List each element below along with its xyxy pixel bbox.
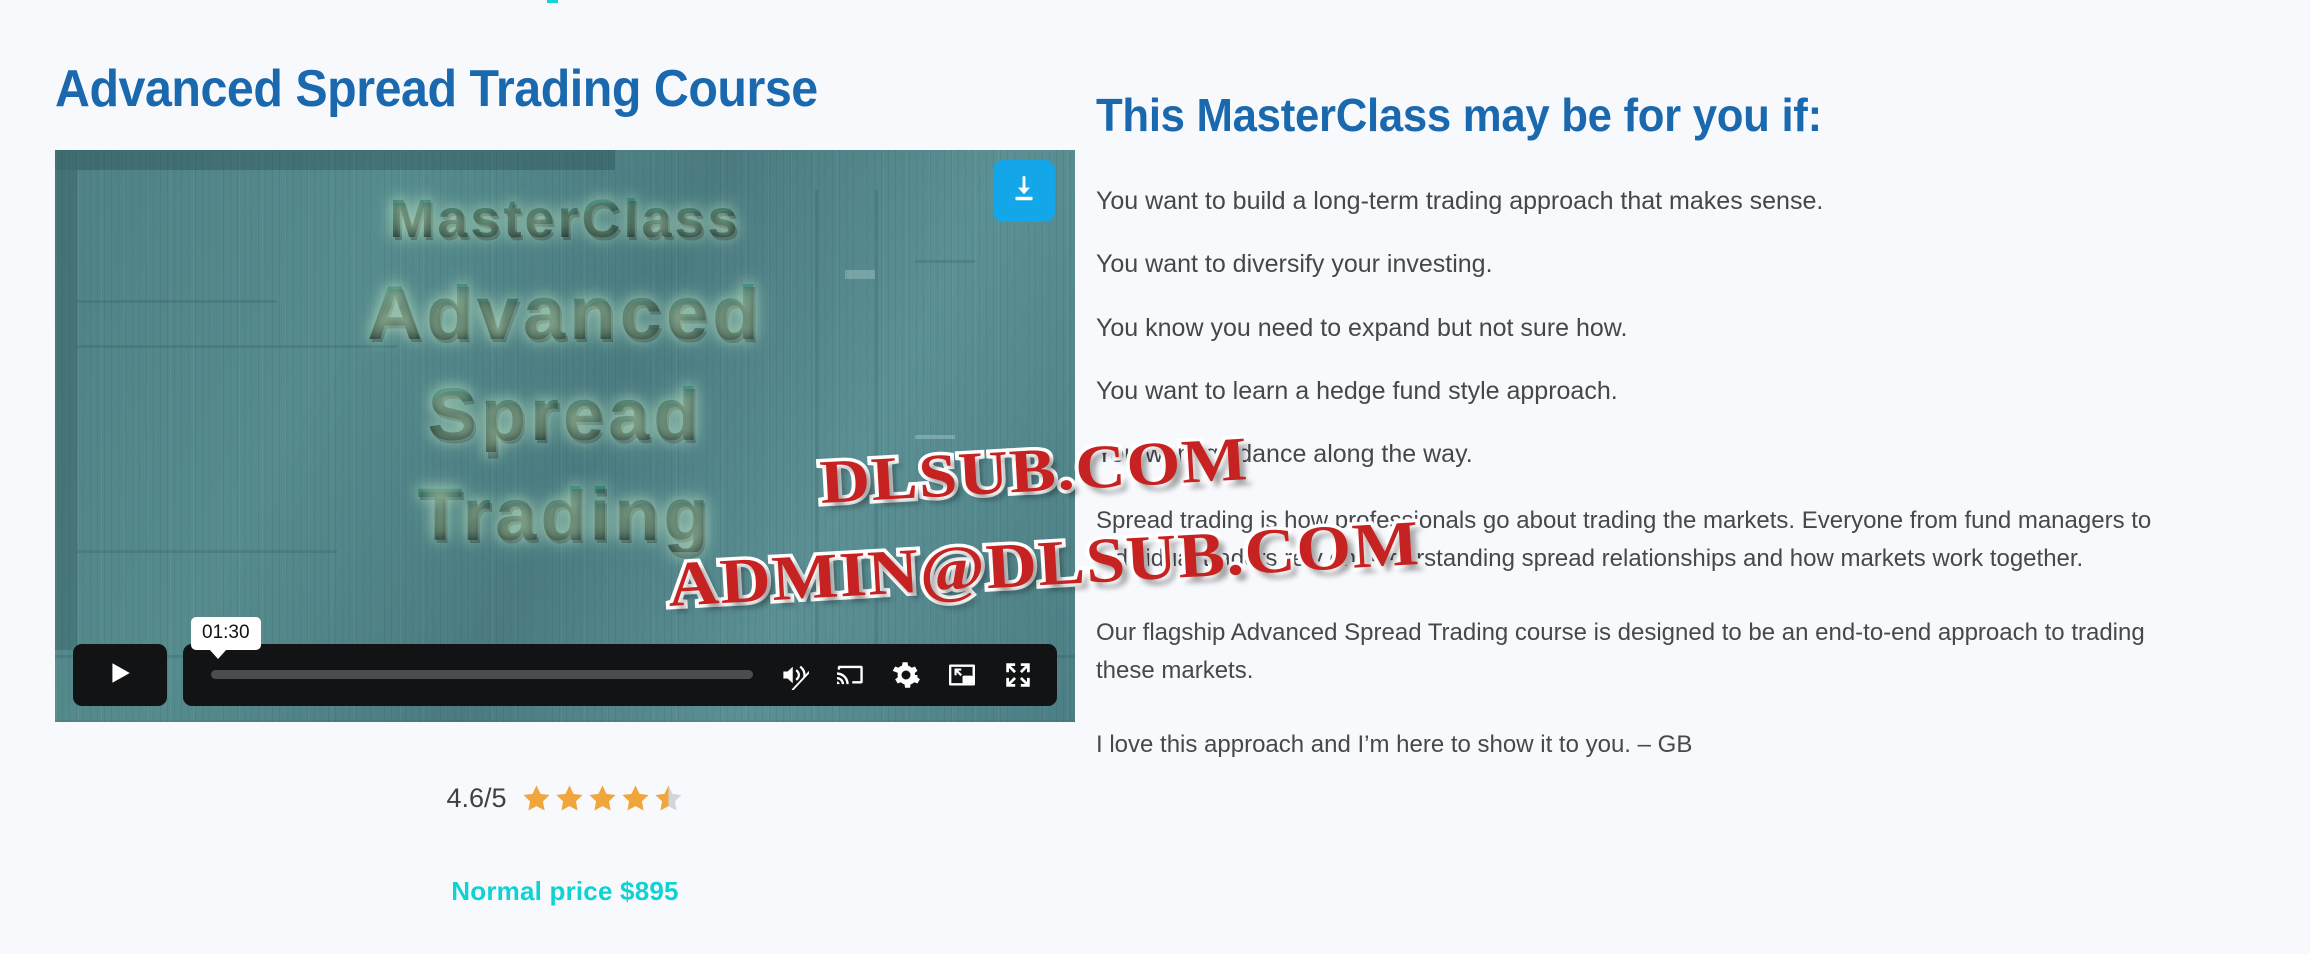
list-item: You want guidance along the way.	[1096, 439, 2236, 470]
thumbnail-line-2: Advanced	[55, 276, 1075, 352]
star-half-icon	[653, 783, 684, 814]
page-root: Advanced Spread Trading Course MasterCla…	[0, 0, 2310, 954]
list-item: You know you need to expand but not sure…	[1096, 313, 2236, 344]
download-icon	[1007, 172, 1041, 209]
rating-row: 4.6/5	[55, 783, 1075, 814]
fullscreen-icon[interactable]	[1001, 658, 1035, 692]
paragraph: Our flagship Advanced Spread Trading cou…	[1096, 614, 2196, 690]
thumbnail-line-1: MasterClass	[55, 192, 1075, 246]
cut-off-text-fragment	[547, 0, 558, 3]
play-icon	[107, 658, 133, 691]
thumbnail-line-4: Trading	[55, 478, 1075, 552]
video-player[interactable]: MasterClass Advanced Spread Trading 01:3…	[55, 150, 1075, 722]
paragraph: Spread trading is how professionals go a…	[1096, 502, 2196, 578]
right-column: This MasterClass may be for you if: You …	[1096, 88, 2236, 764]
thumbnail-line-3: Spread	[55, 378, 1075, 452]
miniplayer-icon[interactable]	[945, 658, 979, 692]
benefits-list: You want to build a long-term trading ap…	[1096, 186, 2236, 470]
description-block: Spread trading is how professionals go a…	[1096, 502, 2236, 764]
chart-decoration	[55, 150, 615, 170]
star-rating	[521, 783, 684, 814]
section-heading: This MasterClass may be for you if:	[1096, 88, 2179, 142]
list-item: You want to learn a hedge fund style app…	[1096, 376, 2236, 407]
page-title: Advanced Spread Trading Course	[55, 60, 1004, 120]
video-control-bar	[183, 644, 1057, 706]
star-icon	[554, 783, 585, 814]
rating-value: 4.6/5	[446, 783, 506, 814]
list-item: You want to build a long-term trading ap…	[1096, 186, 2236, 217]
play-button[interactable]	[73, 644, 167, 706]
video-progress-bar[interactable]	[211, 670, 753, 679]
normal-price-label: Normal price $895	[451, 876, 678, 906]
left-column: Advanced Spread Trading Course MasterCla…	[55, 60, 1075, 722]
star-icon	[620, 783, 651, 814]
cast-icon[interactable]	[833, 658, 867, 692]
download-button[interactable]	[993, 160, 1055, 222]
star-icon	[521, 783, 552, 814]
mute-icon[interactable]	[777, 658, 811, 692]
settings-icon[interactable]	[889, 658, 923, 692]
video-control-icons	[777, 658, 1035, 692]
star-icon	[587, 783, 618, 814]
video-time-tooltip: 01:30	[191, 617, 261, 650]
video-thumbnail-title: MasterClass Advanced Spread Trading	[55, 192, 1075, 552]
paragraph-signature: I love this approach and I’m here to sho…	[1096, 726, 2196, 764]
price-row: Normal price $895	[55, 876, 1075, 907]
list-item: You want to diversify your investing.	[1096, 249, 2236, 280]
